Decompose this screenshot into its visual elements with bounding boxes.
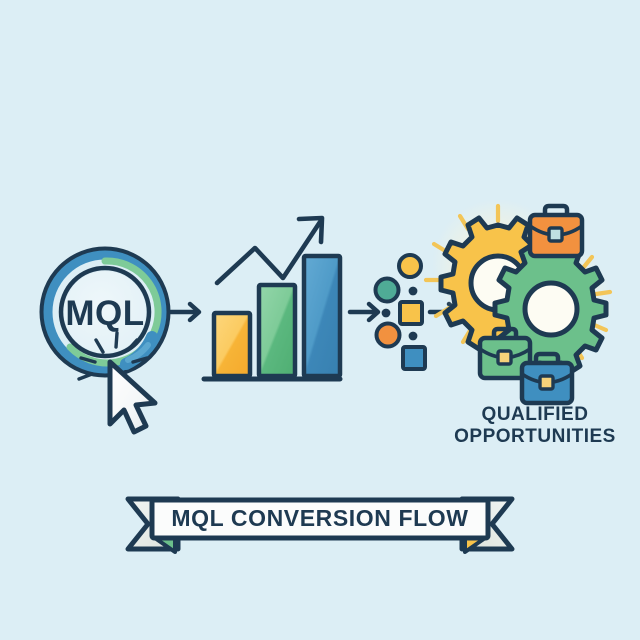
ribbon-title-text: MQL CONVERSION FLOW bbox=[155, 505, 485, 531]
briefcase-blue bbox=[522, 354, 572, 403]
node-dot-2 bbox=[382, 309, 391, 318]
flow-arrow-2 bbox=[350, 304, 378, 320]
bar-1 bbox=[214, 313, 250, 376]
briefcase-orange bbox=[530, 206, 582, 256]
flow-arrow-1 bbox=[171, 304, 199, 320]
qualified-opportunities-label: QUALIFIED OPPORTUNITIES bbox=[430, 404, 640, 448]
mql-label: MQL bbox=[65, 294, 144, 333]
bar-3 bbox=[304, 256, 340, 376]
illustration-svg: MQL bbox=[0, 0, 640, 640]
node-square-yellow bbox=[400, 302, 422, 324]
bar-2 bbox=[259, 285, 295, 376]
node-square-blue bbox=[403, 347, 425, 369]
stage-bar-chart-growth[interactable] bbox=[204, 218, 340, 379]
node-circle-green bbox=[376, 279, 399, 302]
cursor-arrow-icon[interactable] bbox=[110, 362, 155, 432]
node-circle-yellow bbox=[399, 255, 421, 277]
node-dot-3 bbox=[409, 332, 418, 341]
stage-mql-click-circle[interactable]: MQL bbox=[42, 249, 168, 432]
node-circle-orange bbox=[377, 324, 400, 347]
stage-lead-scoring-nodes[interactable] bbox=[376, 255, 426, 369]
stage-qualified-opportunities[interactable] bbox=[426, 199, 613, 403]
node-dot-1 bbox=[409, 287, 418, 296]
diagram-canvas: MQL bbox=[0, 0, 640, 640]
